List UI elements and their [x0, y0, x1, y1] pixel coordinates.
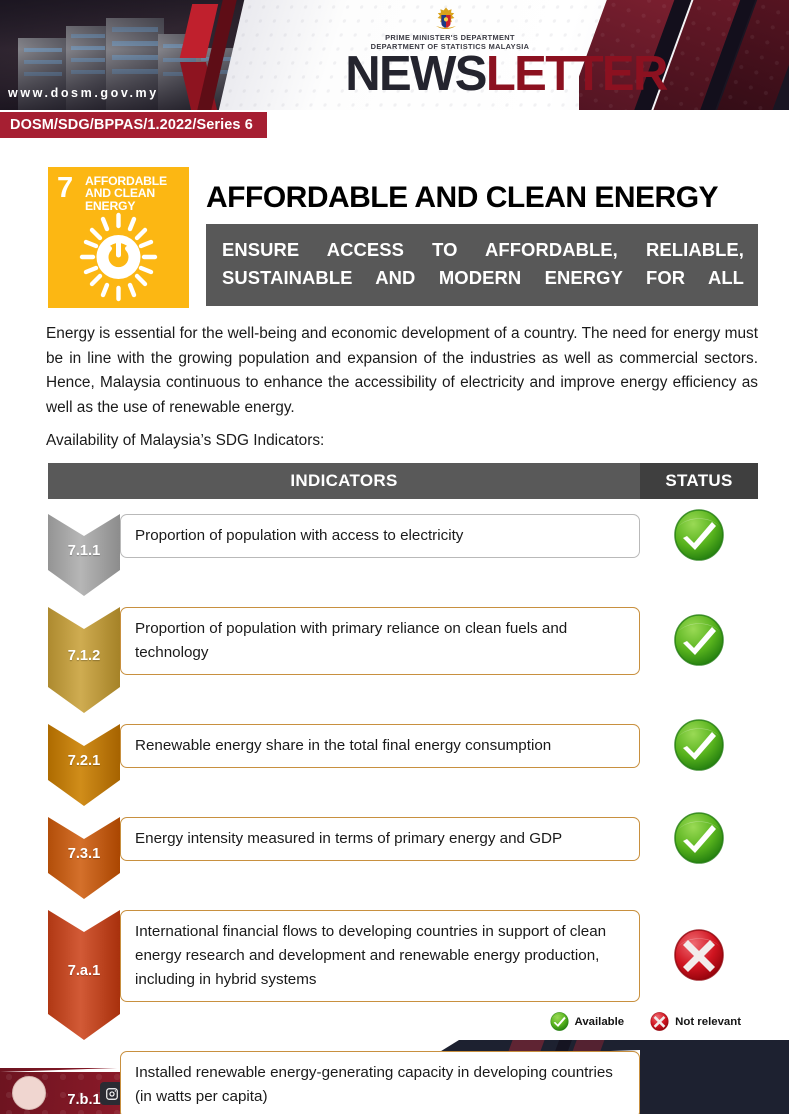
- sdg-goal-7-logo: 7 AFFORDABLE AND CLEAN ENERGY: [48, 167, 189, 308]
- malaysia-coat-of-arms-icon: [432, 6, 460, 32]
- indicator-description: International financial flows to develop…: [120, 910, 640, 1002]
- series-tag: DOSM/SDG/BPPAS/1.2022/Series 6: [0, 112, 267, 138]
- indicator-description: Proportion of population with access to …: [120, 514, 640, 558]
- red-cross-icon: [650, 1012, 669, 1031]
- page-title: AFFORDABLE AND CLEAN ENERGY: [206, 181, 766, 215]
- table-row: 7.1.2 Proportion of population with prim…: [48, 607, 758, 713]
- indicator-status: [640, 607, 758, 673]
- sun-power-icon: [48, 211, 189, 303]
- indicator-description: Installed renewable energy-generating ca…: [120, 1051, 640, 1114]
- table-row: 7.1.1 Proportion of population with acce…: [48, 514, 758, 596]
- newsletter-wordmark: NEWSLETTER: [296, 47, 716, 101]
- indicator-status: [640, 817, 758, 859]
- page-subtitle: ENSURE ACCESS TO AFFORDABLE, RELIABLE, S…: [206, 224, 758, 306]
- legend-item: Not relevant: [650, 1012, 741, 1031]
- avatar: [12, 1076, 46, 1110]
- indicator-code: 7.b.1: [48, 1092, 120, 1108]
- green-check-icon: [550, 1012, 569, 1031]
- dept-line-1: PRIME MINISTER'S DEPARTMENT: [330, 33, 570, 42]
- wordmark-news: NEWS: [345, 47, 486, 101]
- indicator-code-marker: 7.1.1: [48, 514, 120, 596]
- legend-label: Not relevant: [675, 1016, 741, 1028]
- green-check-icon: [673, 812, 725, 864]
- indicator-code-marker: 7.2.1: [48, 724, 120, 806]
- wordmark-letter: LETTER: [486, 47, 667, 101]
- indicator-code-marker: 7.3.1: [48, 817, 120, 899]
- indicator-status: [640, 514, 758, 556]
- availability-label: Availability of Malaysia’s SDG Indicator…: [46, 432, 324, 450]
- legend-item: Available: [550, 1012, 625, 1031]
- indicator-description: Renewable energy share in the total fina…: [120, 724, 640, 768]
- sdg-goal-number: 7: [57, 174, 73, 203]
- indicator-code: 7.2.1: [48, 753, 120, 769]
- indicator-code-marker: 7.a.1: [48, 910, 120, 1040]
- indicator-code: 7.1.2: [48, 648, 120, 664]
- green-check-icon: [673, 719, 725, 771]
- indicator-code: 7.1.1: [48, 543, 120, 559]
- red-cross-icon: [673, 929, 725, 981]
- indicator-description: Proportion of population with primary re…: [120, 607, 640, 675]
- table-row: 7.3.1 Energy intensity measured in terms…: [48, 817, 758, 899]
- indicator-status: [640, 910, 758, 1000]
- legend-label: Available: [575, 1016, 625, 1028]
- column-header-status: STATUS: [640, 463, 758, 499]
- header-banner: www.dosm.gov.my PRIME MINISTER'S: [0, 0, 789, 110]
- green-check-icon: [673, 614, 725, 666]
- table-row: 7.2.1 Renewable energy share in the tota…: [48, 724, 758, 806]
- indicator-code: 7.3.1: [48, 846, 120, 862]
- green-check-icon: [673, 509, 725, 561]
- intro-paragraph: Energy is essential for the well-being a…: [46, 322, 758, 420]
- indicator-code: 7.a.1: [48, 963, 120, 979]
- indicator-description: Energy intensity measured in terms of pr…: [120, 817, 640, 861]
- newsletter-page: www.dosm.gov.my PRIME MINISTER'S: [0, 0, 789, 1114]
- indicator-code-marker: 7.1.2: [48, 607, 120, 713]
- status-legend: Available Not relevant: [550, 1012, 741, 1031]
- table-header: INDICATORS STATUS: [48, 463, 758, 499]
- column-header-indicators: INDICATORS: [48, 463, 640, 499]
- sdg-goal-short-name: AFFORDABLE AND CLEAN ENERGY: [85, 175, 183, 212]
- indicator-status: [640, 724, 758, 766]
